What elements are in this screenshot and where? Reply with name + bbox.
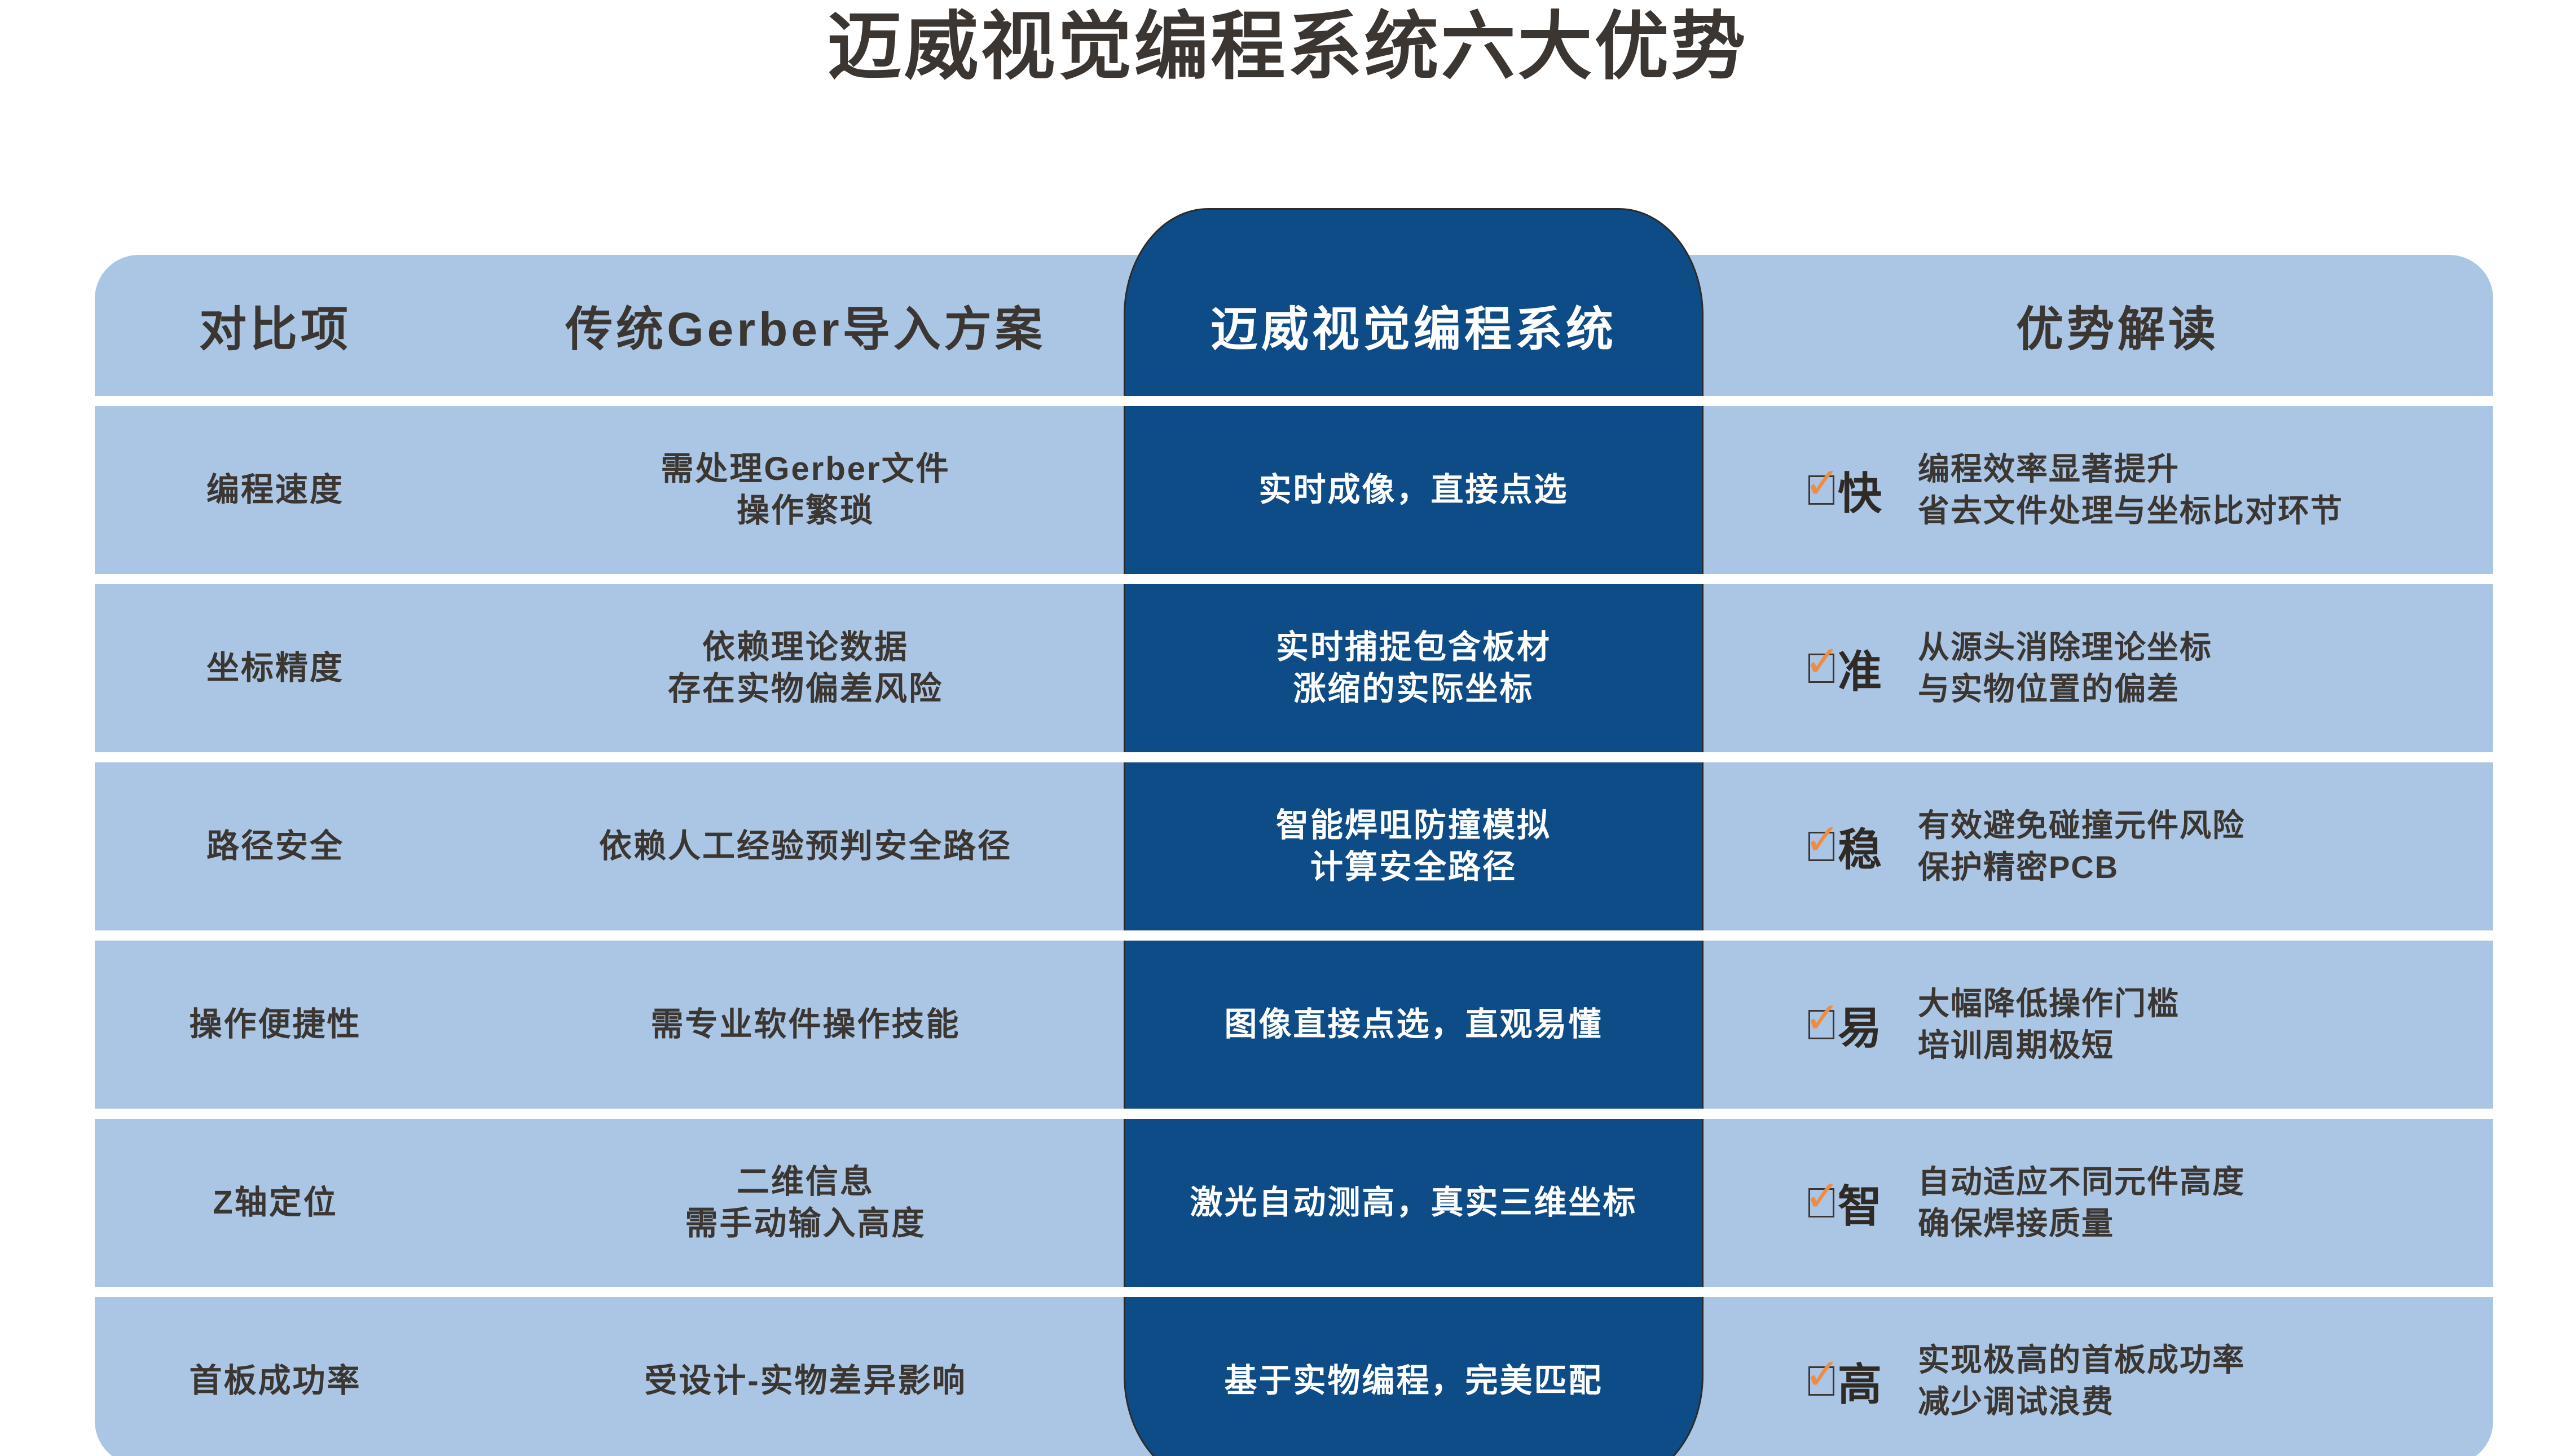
row-item-label: 操作便捷性 (189, 1006, 361, 1043)
advantage-key: 高 (1838, 1349, 1883, 1413)
row-traditional-cell: 受设计-实物差异影响 (456, 1360, 1155, 1402)
advantage-badge: ✓快 (1808, 458, 1883, 522)
highlight-row-separator (1124, 1109, 1704, 1119)
check-mark-icon: ✓ (1808, 832, 1834, 861)
row-item-label: 首板成功率 (189, 1362, 361, 1399)
row-traditional-cell: 需专业软件操作技能 (456, 1004, 1155, 1045)
highlight-row-separator (1124, 574, 1704, 584)
row-highlight-cell: 智能焊咀防撞模拟计算安全路径 (1124, 762, 1704, 930)
check-mark-icon: ✓ (1808, 1188, 1834, 1217)
advantage-badge: ✓稳 (1808, 815, 1883, 878)
row-item-label: Z轴定位 (213, 1184, 337, 1221)
header-highlight: 迈威视觉编程系统 (1124, 255, 1704, 396)
highlight-row-separator (1124, 930, 1704, 941)
header-traditional: 传统Gerber导入方案 (565, 303, 1045, 356)
row-traditional-cell: 依赖理论数据存在实物偏差风险 (456, 626, 1155, 710)
page-title: 迈威视觉编程系统六大优势 (0, 5, 2575, 89)
advantage-badge: ✓准 (1808, 637, 1883, 700)
advantage-key: 快 (1838, 458, 1883, 522)
advantage-badge: ✓高 (1808, 1349, 1883, 1413)
row-highlight-cell: 基于实物编程，完美匹配 (1124, 1297, 1704, 1456)
row-item-label: 编程速度 (206, 471, 344, 508)
check-mark-icon: ✓ (1808, 1010, 1834, 1039)
check-mark-icon: ✓ (1808, 654, 1834, 683)
advantage-badge: ✓易 (1808, 993, 1883, 1056)
row-highlight-cell: 实时成像，直接点选 (1124, 406, 1704, 574)
check-mark-icon: ✓ (1808, 475, 1834, 505)
row-traditional-cell: 需处理Gerber文件操作繁琐 (456, 448, 1155, 532)
row-highlight-cell: 激光自动测高，真实三维坐标 (1124, 1119, 1704, 1287)
highlight-row-separator (1124, 752, 1704, 762)
advantage-description: 实现极高的首板成功率减少调试浪费 (1905, 1339, 2493, 1423)
advantage-key: 准 (1838, 637, 1883, 700)
advantage-key: 智 (1838, 1171, 1883, 1234)
row-item-label: 路径安全 (206, 828, 344, 864)
header-advantage: 优势解读 (2016, 292, 2219, 360)
advantage-description: 自动适应不同元件高度确保焊接质量 (1905, 1161, 2493, 1245)
advantage-description: 大幅降低操作门槛培训周期极短 (1905, 983, 2493, 1066)
row-highlight-cell: 实时捕捉包含板材涨缩的实际坐标 (1124, 584, 1704, 752)
advantage-description: 有效避免碰撞元件风险保护精密PCB (1905, 805, 2493, 888)
row-traditional-cell: 依赖人工经验预判安全路径 (456, 826, 1155, 867)
header-item: 对比项 (199, 303, 351, 356)
row-item-label: 坐标精度 (206, 650, 344, 686)
check-mark-icon: ✓ (1808, 1366, 1834, 1396)
advantage-key: 易 (1838, 993, 1883, 1056)
highlight-row-separator (1124, 396, 1704, 406)
infographic-page: 迈威视觉编程系统六大优势 对比项传统Gerber导入方案优势解读编程速度需处理G… (0, 0, 2575, 1456)
row-traditional-cell: 二维信息需手动输入高度 (456, 1161, 1155, 1245)
row-highlight-cell: 图像直接点选，直观易懂 (1124, 941, 1704, 1109)
advantage-description: 从源头消除理论坐标与实物位置的偏差 (1905, 626, 2493, 710)
advantage-badge: ✓智 (1808, 1171, 1883, 1234)
advantage-description: 编程效率显著提升省去文件处理与坐标比对环节 (1905, 448, 2493, 532)
highlight-row-separator (1124, 1287, 1704, 1297)
advantage-key: 稳 (1838, 815, 1883, 878)
